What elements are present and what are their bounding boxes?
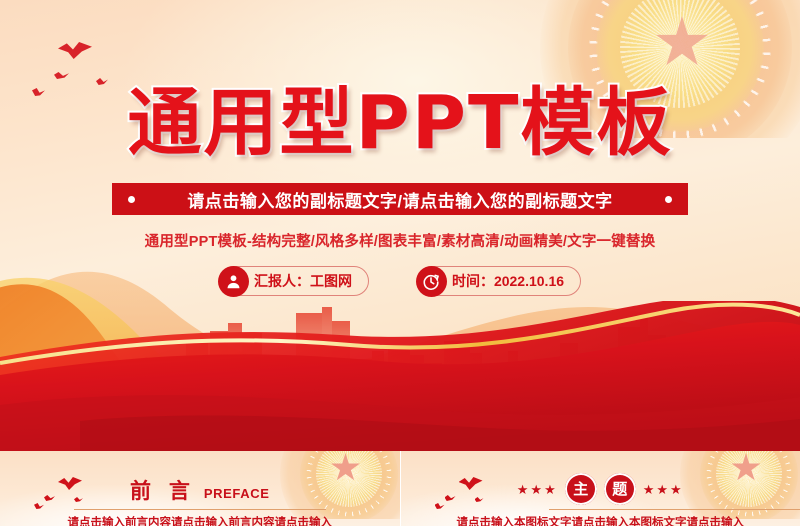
- preface-body-text: 请点击输入前言内容请点击输入前言内容请点击输入: [0, 514, 400, 526]
- date-pill[interactable]: 时间：2022.10.16: [417, 266, 581, 296]
- meta-row: 汇报人：工图网 时间：2022.10.16: [0, 266, 800, 296]
- bullet-dot-icon: [665, 196, 672, 203]
- feature-list-text: 通用型PPT模板-结构完整/风格多样/图表丰富/素材高清/动画精美/文字一键替换: [0, 230, 800, 251]
- stars-left: ★★★: [517, 483, 558, 496]
- clock-icon: [416, 266, 447, 297]
- date-text: 时间：2022.10.16: [452, 271, 564, 291]
- seal-badge-right: 题: [604, 473, 636, 505]
- stars-right: ★★★: [643, 483, 684, 496]
- preface-heading-cn: 前 言: [130, 475, 196, 505]
- thumbnail-slide-preface[interactable]: 前 言 PREFACE 请点击输入前言内容请点击输入前言内容请点击输入: [0, 451, 400, 526]
- theme-body-text: 请点击输入本图标文字请点击输入本图标文字请点击输入: [401, 514, 800, 526]
- divider-rule: [549, 509, 800, 510]
- theme-headline: ★★★ 主 题 ★★★: [401, 473, 800, 505]
- person-icon: [218, 266, 249, 297]
- seal-char-left: 主: [573, 482, 588, 497]
- main-slide[interactable]: 通用型PPT模板 请点击输入您的副标题文字/请点击输入您的副标题文字 通用型PP…: [0, 0, 800, 451]
- bullet-dot-icon: [128, 196, 135, 203]
- presentation-canvas: 通用型PPT模板 请点击输入您的副标题文字/请点击输入您的副标题文字 通用型PP…: [0, 0, 800, 526]
- subtitle-bar[interactable]: 请点击输入您的副标题文字/请点击输入您的副标题文字: [112, 183, 688, 215]
- seal-badge-left: 主: [565, 473, 597, 505]
- presenter-text: 汇报人：工图网: [254, 271, 352, 291]
- thumbnail-slide-theme[interactable]: ★★★ 主 题 ★★★ 请点击输入本图标文字请点击输入本图标文字请点击输入: [401, 451, 800, 526]
- presenter-pill[interactable]: 汇报人：工图网: [219, 266, 369, 296]
- star-icon: [655, 16, 709, 70]
- subtitle-text: 请点击输入您的副标题文字/请点击输入您的副标题文字: [187, 187, 612, 212]
- title-block: 通用型PPT模板: [0, 86, 800, 160]
- dove-icon: [58, 42, 92, 59]
- page-title[interactable]: 通用型PPT模板: [0, 86, 800, 160]
- dove-icon: [96, 78, 108, 85]
- red-silk-ribbon-svg: [0, 301, 800, 451]
- dove-icon: [54, 72, 69, 79]
- thumbnail-slide-row: 前 言 PREFACE 请点击输入前言内容请点击输入前言内容请点击输入 ★★★: [0, 451, 800, 526]
- divider-rule: [74, 509, 326, 510]
- preface-heading-en: PREFACE: [204, 486, 270, 501]
- seal-char-right: 题: [612, 482, 627, 497]
- preface-headline: 前 言 PREFACE: [0, 475, 400, 505]
